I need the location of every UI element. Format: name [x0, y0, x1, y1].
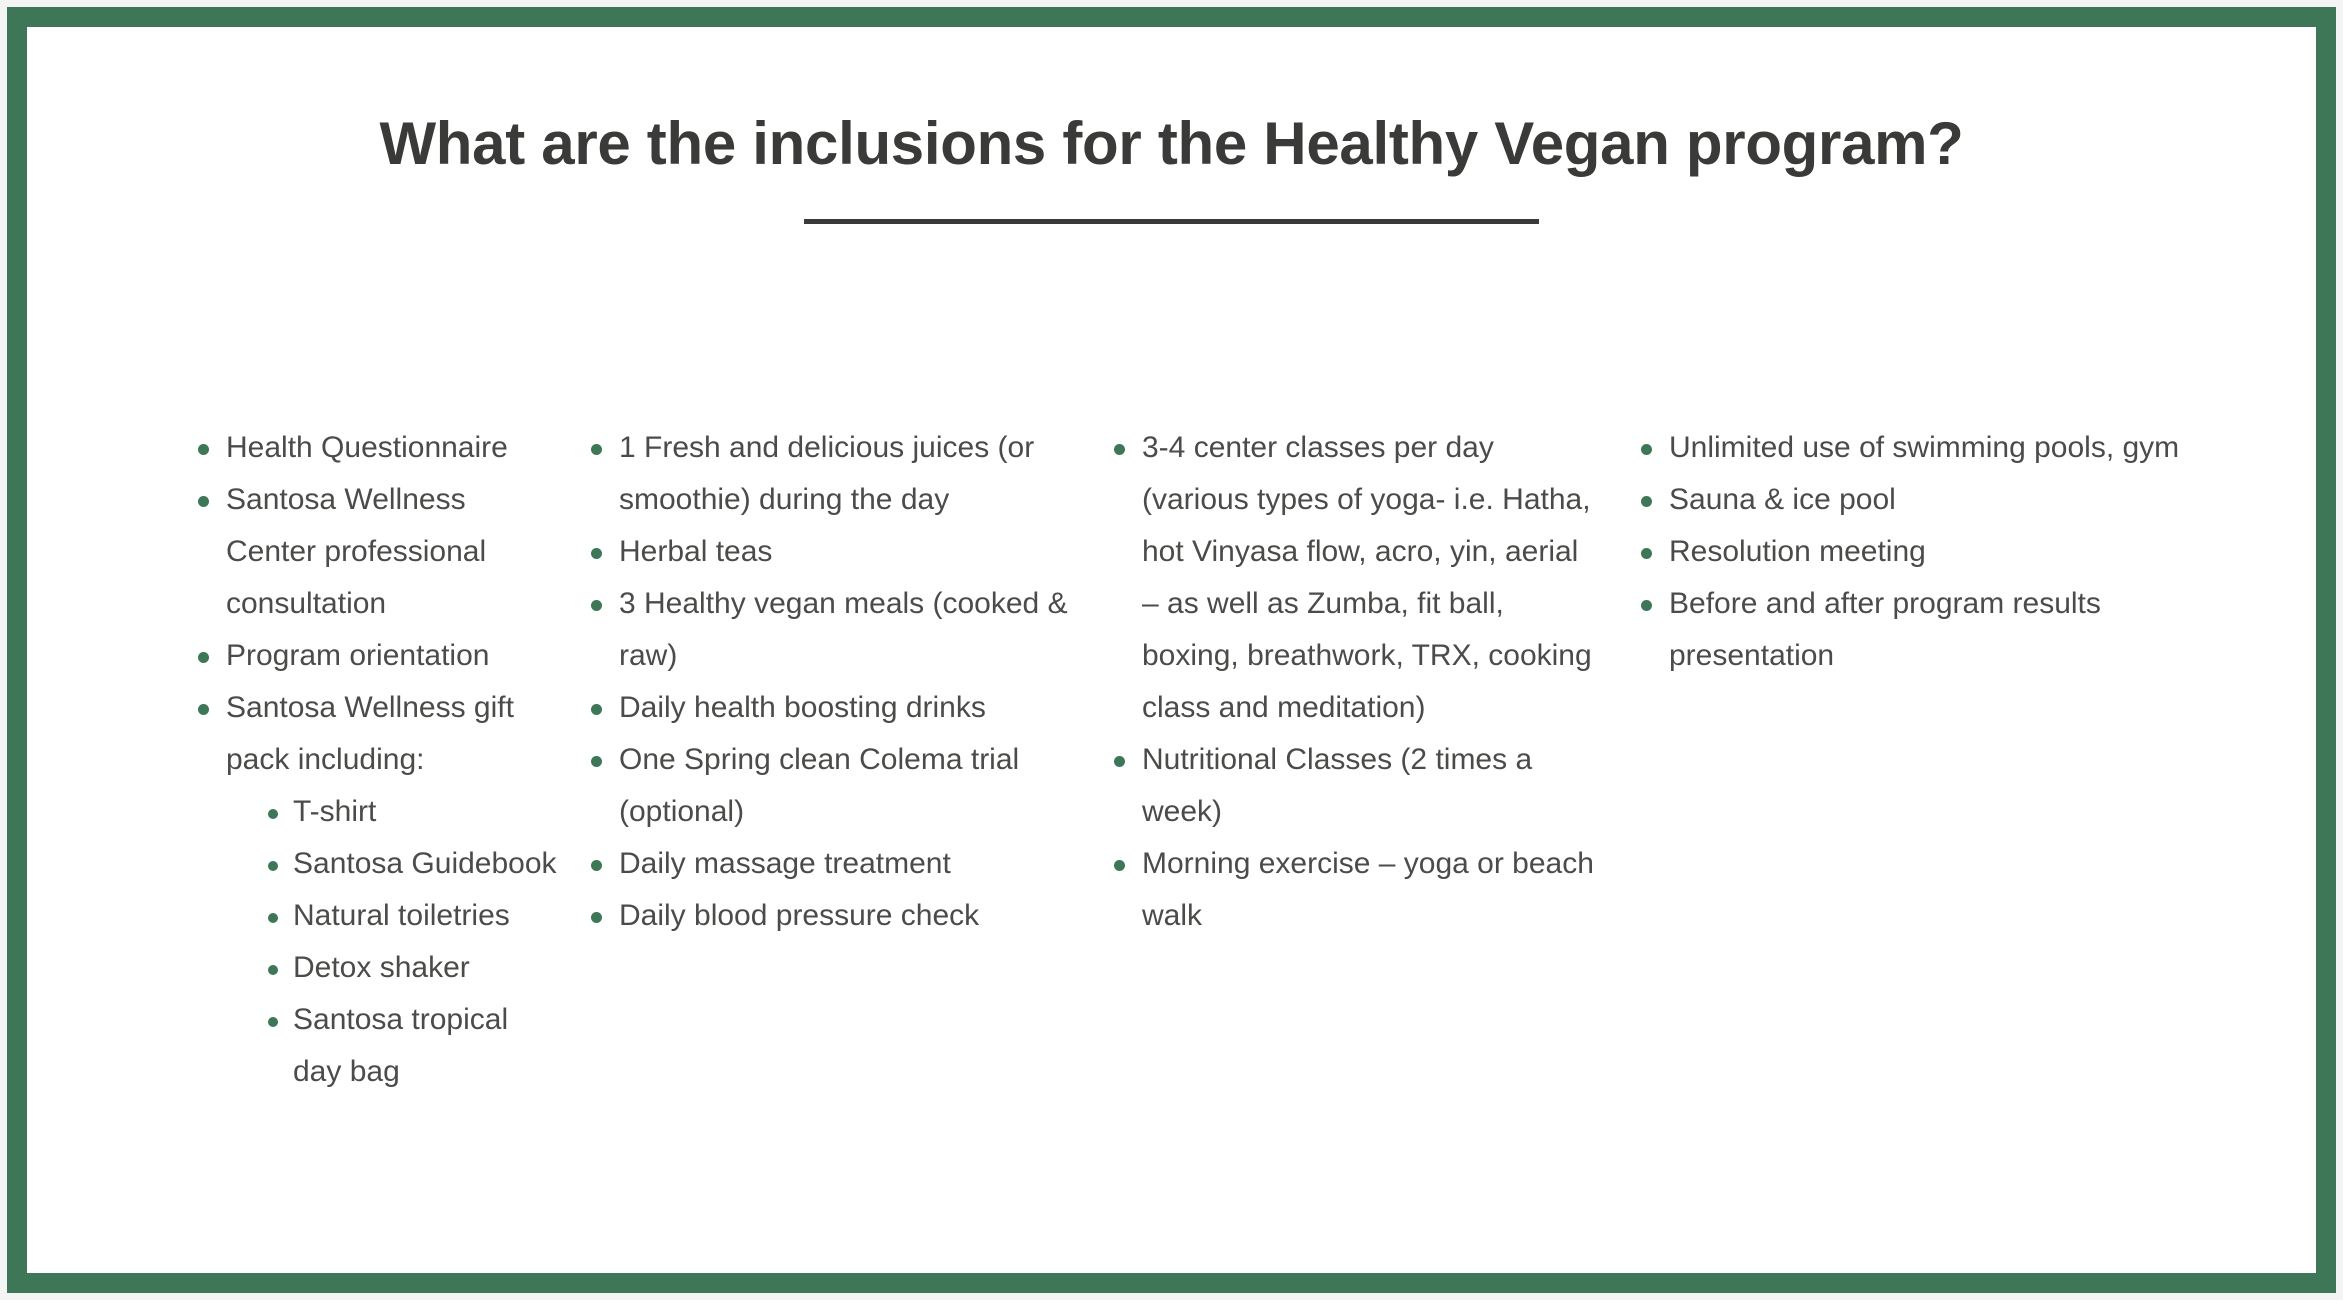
- list-item: 3 Healthy vegan meals (cooked & raw): [582, 578, 1077, 682]
- list-item: One Spring clean Colema trial (optional): [582, 734, 1077, 838]
- list-item-label: 3 Healthy vegan meals (cooked & raw): [619, 578, 1077, 682]
- list-item: Unlimited use of swimming pools, gym: [1632, 422, 2222, 474]
- sub-list-item-label: Detox shaker: [293, 942, 557, 994]
- bullet-list-4: Unlimited use of swimming pools, gym Sau…: [1632, 422, 2222, 682]
- list-item: 1 Fresh and delicious juices (or smoothi…: [582, 422, 1077, 526]
- list-item-label: Santosa Wellness gift pack including:: [226, 682, 557, 786]
- list-item-label: Herbal teas: [619, 526, 1077, 578]
- list-item-label: Resolution meeting: [1669, 526, 2222, 578]
- sub-list-item: Santosa Guidebook: [260, 838, 557, 890]
- list-item-label: Before and after program results present…: [1669, 578, 2222, 682]
- list-item-label: Daily blood pressure check: [619, 890, 1077, 942]
- column-1: Health Questionnaire Santosa Wellness Ce…: [27, 422, 557, 1098]
- list-item: Morning exercise – yoga or beach walk: [1105, 838, 1602, 942]
- list-item-label: Program orientation: [226, 630, 557, 682]
- list-item: Health Questionnaire: [189, 422, 557, 474]
- list-item: Program orientation: [189, 630, 557, 682]
- list-item: Daily health boosting drinks: [582, 682, 1077, 734]
- sub-bullet-list-gift-pack: T-shirt Santosa Guidebook Natural toilet…: [226, 786, 557, 1098]
- list-item-label: One Spring clean Colema trial (optional): [619, 734, 1077, 838]
- list-item: Nutritional Classes (2 times a week): [1105, 734, 1602, 838]
- list-item: Daily massage treatment: [582, 838, 1077, 890]
- list-item: Before and after program results present…: [1632, 578, 2222, 682]
- list-item-label: Daily health boosting drinks: [619, 682, 1077, 734]
- list-item-label: Morning exercise – yoga or beach walk: [1142, 838, 1602, 942]
- page-title: What are the inclusions for the Healthy …: [352, 109, 1992, 179]
- slide-green-border-frame: What are the inclusions for the Healthy …: [7, 7, 2336, 1293]
- list-item-label: Sauna & ice pool: [1669, 474, 2222, 526]
- sub-list-item-label: T-shirt: [293, 786, 557, 838]
- list-item-label: Unlimited use of swimming pools, gym: [1669, 422, 2222, 474]
- sub-list-item-label: Natural toiletries: [293, 890, 557, 942]
- bullet-list-1: Health Questionnaire Santosa Wellness Ce…: [189, 422, 557, 1098]
- title-divider: [804, 219, 1539, 224]
- list-item: Daily blood pressure check: [582, 890, 1077, 942]
- sub-list-item: T-shirt: [260, 786, 557, 838]
- sub-list-item: Natural toiletries: [260, 890, 557, 942]
- column-3: 3-4 center classes per day (various type…: [1077, 422, 1602, 942]
- list-item: Resolution meeting: [1632, 526, 2222, 578]
- list-item: Santosa Wellness gift pack including: T-…: [189, 682, 557, 1098]
- list-item-label: Nutritional Classes (2 times a week): [1142, 734, 1602, 838]
- inclusions-columns: Health Questionnaire Santosa Wellness Ce…: [27, 422, 2316, 1098]
- sub-list-item-label: Santosa tropical day bag: [293, 994, 557, 1098]
- list-item-label: Health Questionnaire: [226, 422, 557, 474]
- list-item: Sauna & ice pool: [1632, 474, 2222, 526]
- column-2: 1 Fresh and delicious juices (or smoothi…: [557, 422, 1077, 942]
- sub-list-item: Santosa tropical day bag: [260, 994, 557, 1098]
- bullet-list-3: 3-4 center classes per day (various type…: [1105, 422, 1602, 942]
- list-item-label: 1 Fresh and delicious juices (or smoothi…: [619, 422, 1077, 526]
- list-item: Santosa Wellness Center professional con…: [189, 474, 557, 630]
- bullet-list-2: 1 Fresh and delicious juices (or smoothi…: [582, 422, 1077, 942]
- sub-list-item-label: Santosa Guidebook: [293, 838, 557, 890]
- title-block: What are the inclusions for the Healthy …: [27, 109, 2316, 224]
- column-4: Unlimited use of swimming pools, gym Sau…: [1602, 422, 2222, 682]
- list-item-label: 3-4 center classes per day (various type…: [1142, 422, 1602, 734]
- list-item-label: Daily massage treatment: [619, 838, 1077, 890]
- sub-list-item: Detox shaker: [260, 942, 557, 994]
- list-item: 3-4 center classes per day (various type…: [1105, 422, 1602, 734]
- slide-canvas: What are the inclusions for the Healthy …: [27, 27, 2316, 1273]
- list-item: Herbal teas: [582, 526, 1077, 578]
- list-item-label: Santosa Wellness Center professional con…: [226, 474, 557, 630]
